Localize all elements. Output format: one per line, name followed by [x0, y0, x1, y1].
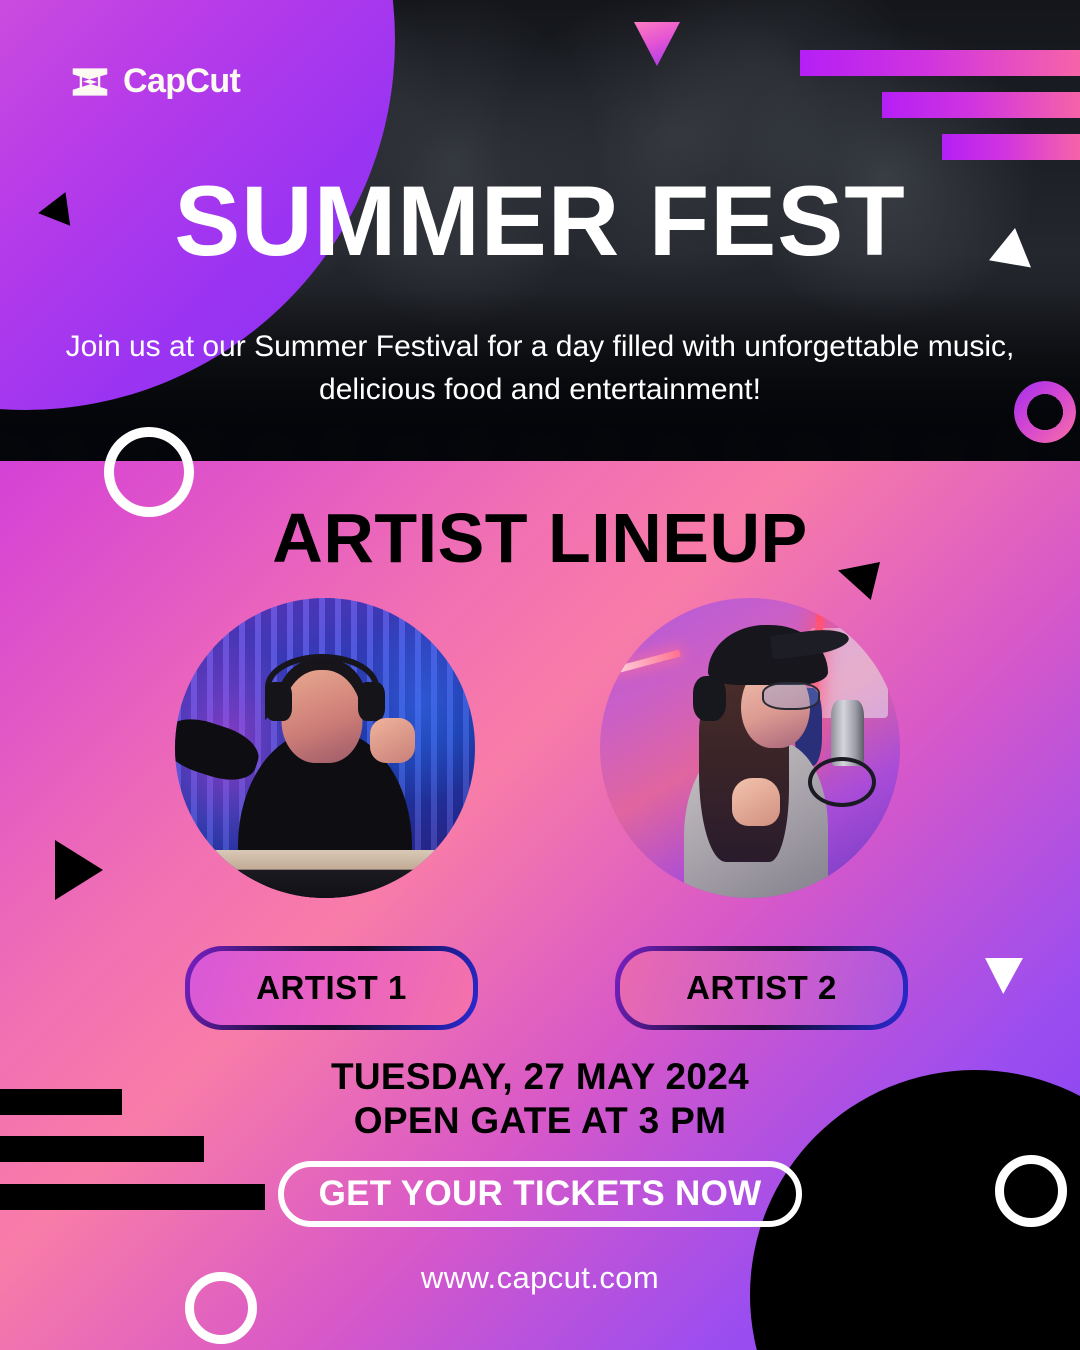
white-ring-2	[995, 1155, 1067, 1227]
desk-with-keyboard	[175, 850, 475, 898]
raised-fist	[370, 718, 415, 763]
website-url[interactable]: www.capcut.com	[0, 1260, 1080, 1296]
brand-name: CapCut	[123, 62, 240, 101]
event-time: OPEN GATE AT 3 PM	[0, 1099, 1080, 1143]
artist-photo-1	[175, 598, 475, 898]
black-bar-3	[0, 1184, 265, 1210]
white-triangle-right-icon	[985, 958, 1023, 994]
artist-1-label: ARTIST 1	[190, 951, 473, 1025]
black-play-triangle-icon	[55, 840, 103, 900]
neon-strip-horizontal	[615, 650, 681, 674]
artist-2-scene	[600, 598, 900, 898]
artist-2-hand	[732, 778, 780, 826]
glasses-icon	[762, 682, 820, 710]
gradient-bar-1	[800, 50, 1080, 76]
gradient-bar-3	[942, 134, 1080, 160]
artist-name-pill-1[interactable]: ARTIST 1	[185, 946, 478, 1030]
artist-2-label: ARTIST 2	[620, 951, 903, 1025]
event-date-block: TUESDAY, 27 MAY 2024 OPEN GATE AT 3 PM	[0, 1055, 1080, 1142]
gradient-bar-2	[882, 92, 1080, 118]
headset-cup-left	[265, 682, 292, 721]
artist-photo-2	[600, 598, 900, 898]
header-subtitle: Join us at our Summer Festival for a day…	[60, 326, 1020, 411]
artist-name-pill-2[interactable]: ARTIST 2	[615, 946, 908, 1030]
lineup-heading: ARTIST LINEUP	[0, 498, 1080, 578]
capcut-logo-icon	[70, 65, 110, 99]
studio-microphone	[831, 700, 864, 766]
headset-cup-right	[358, 682, 385, 721]
artist-1-scene	[175, 598, 475, 898]
get-tickets-label: GET YOUR TICKETS NOW	[319, 1174, 762, 1214]
summer-fest-poster: CapCut SUMMER FEST Join us at our Summer…	[0, 0, 1080, 1350]
get-tickets-button[interactable]: GET YOUR TICKETS NOW	[278, 1161, 802, 1227]
capcut-brand-logo[interactable]: CapCut	[70, 62, 240, 101]
microphone-shock-mount	[808, 757, 876, 807]
event-date: TUESDAY, 27 MAY 2024	[0, 1055, 1080, 1099]
page-title: SUMMER FEST	[0, 171, 1080, 270]
gradient-ring-1	[1014, 381, 1076, 443]
